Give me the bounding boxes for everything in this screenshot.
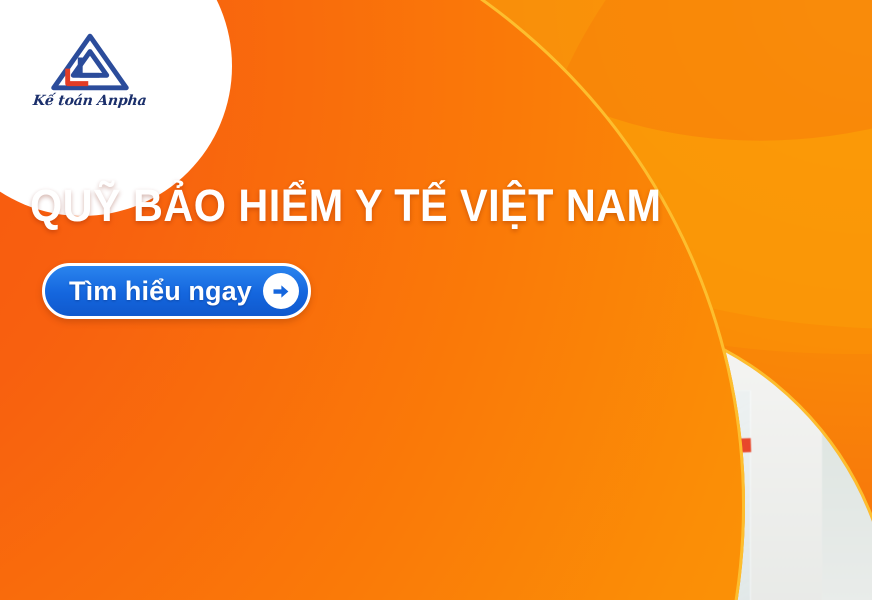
logo-wordmark: Kế toán Anpha bbox=[32, 93, 147, 109]
learn-more-button[interactable]: Tìm hiểu ngay bbox=[42, 263, 311, 319]
arrow-right-glyph bbox=[270, 281, 291, 302]
anpha-triangle-logo-icon bbox=[48, 32, 132, 92]
brand-logo[interactable]: Kế toán Anpha bbox=[30, 32, 150, 128]
page-title: QUỸ BẢO HIỂM Y TẾ VIỆT NAM bbox=[30, 183, 662, 228]
learn-more-button-label: Tìm hiểu ngay bbox=[69, 276, 252, 307]
arrow-right-icon bbox=[263, 273, 299, 309]
promotional-banner: THÔNG TIN bbox=[0, 0, 872, 600]
